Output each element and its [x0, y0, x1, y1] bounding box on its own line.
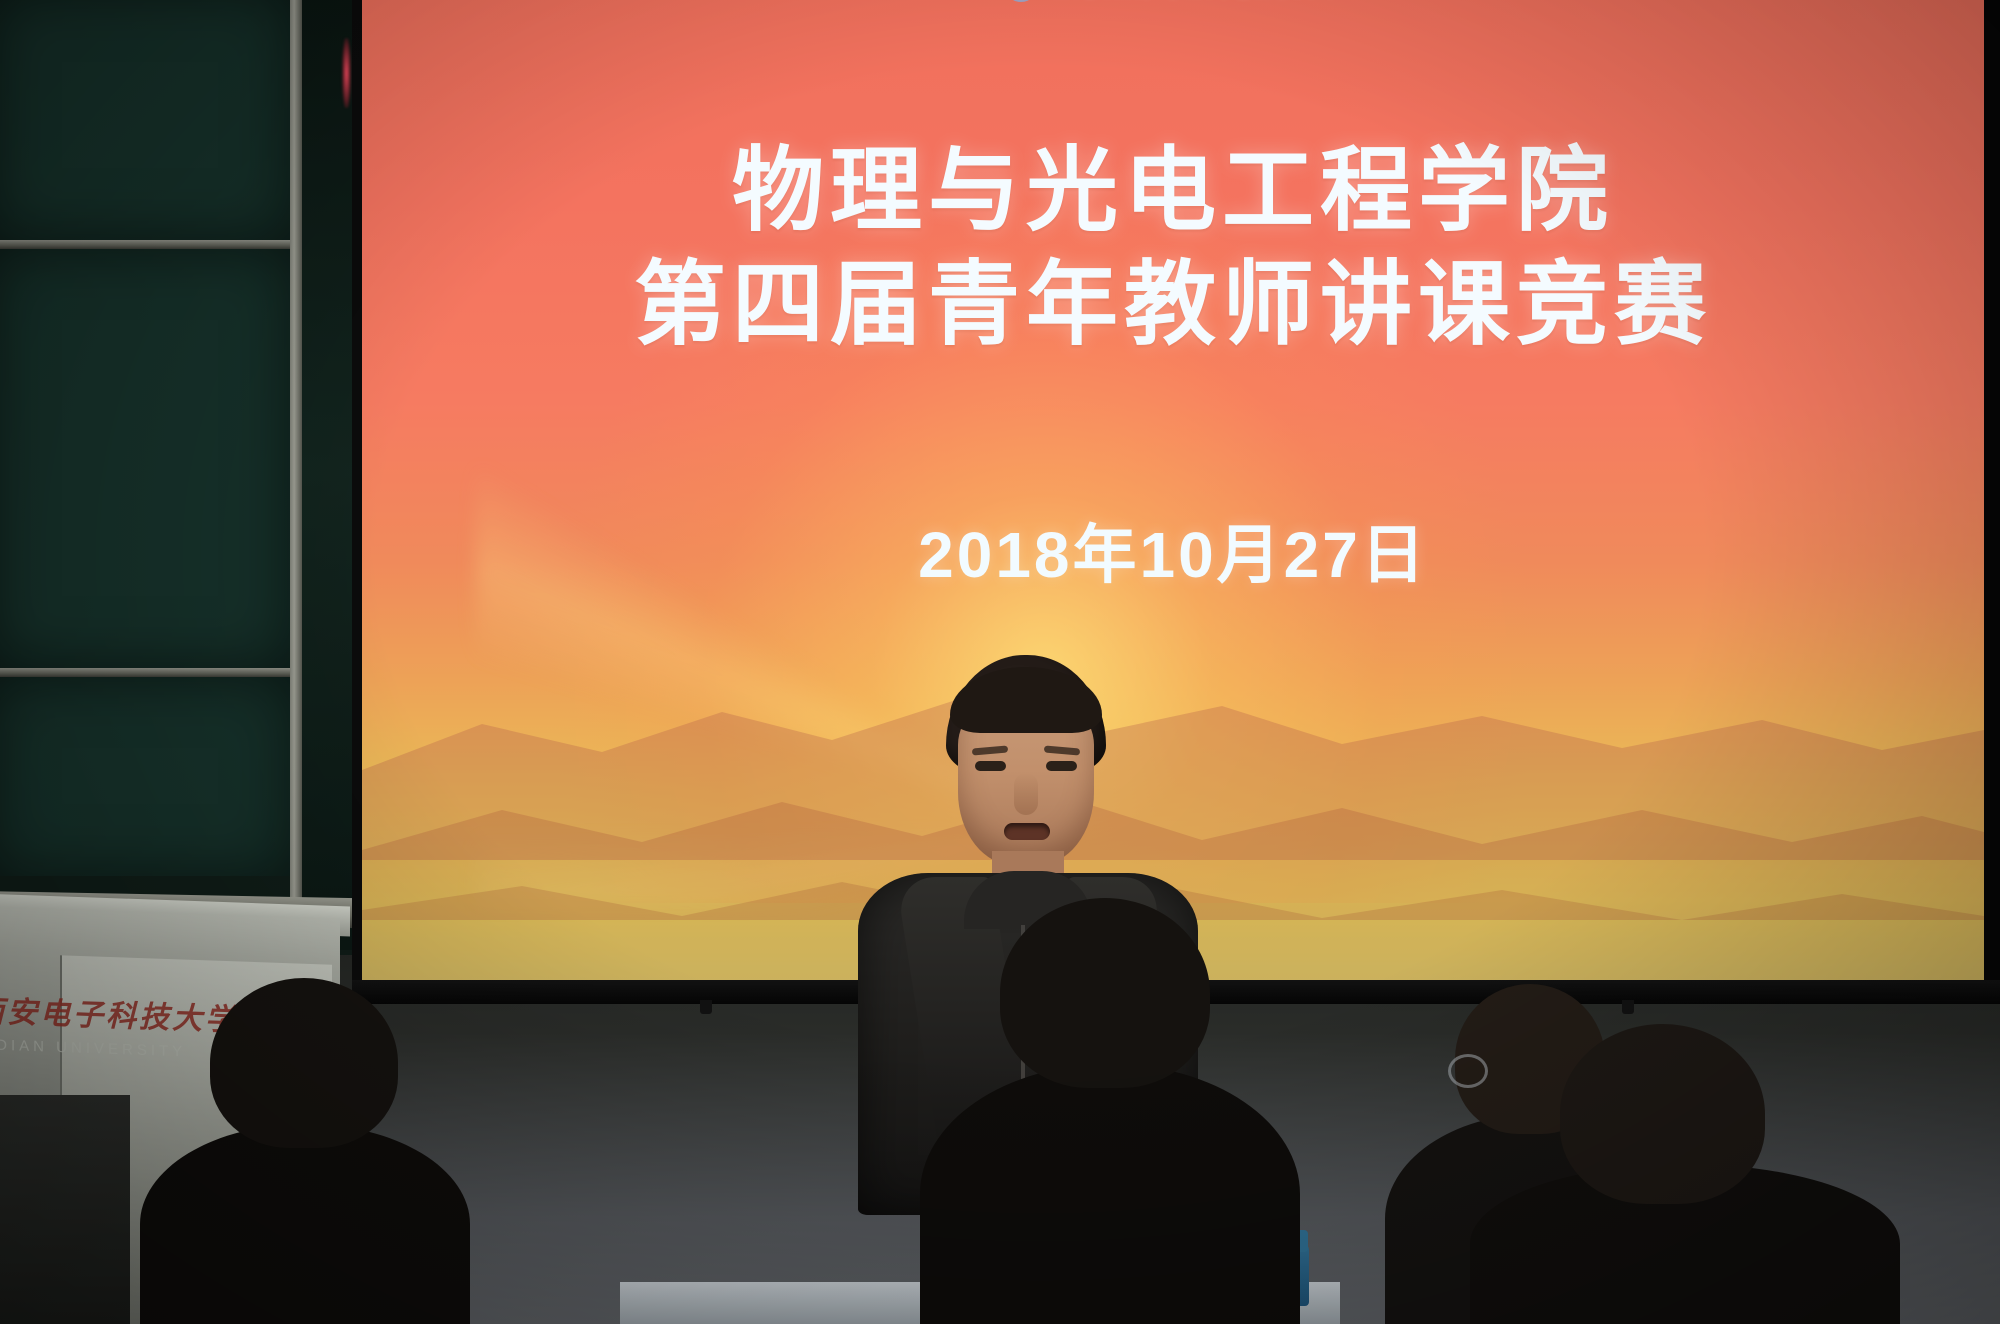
audience-member-left-body: [140, 1124, 470, 1324]
slide-date: 2018年10月27日: [362, 504, 1984, 596]
audience-row: [0, 904, 2000, 1324]
slide-brand-bar: XIDIAN UNIVERSITY: [362, 0, 1984, 18]
screen-right-edge: [1984, 0, 2000, 984]
lecture-hall-photo: XIDIAN UNIVERSITY 物理与光电工程学院 第四届青年教师讲课竞赛 …: [0, 0, 2000, 1324]
chalkboard-rail-lower: [0, 668, 302, 677]
green-chalkboard: [0, 0, 390, 955]
audience-member-center-body: [920, 1064, 1300, 1324]
presenter-mouth: [1004, 823, 1050, 840]
university-seal-icon: [1004, 0, 1038, 2]
presenter-eye-left: [975, 761, 1006, 771]
slide-title-line1: 物理与光电工程学院: [732, 140, 1614, 242]
presenter-nose: [1014, 773, 1038, 815]
audience-member-far-right-head: [1560, 1024, 1765, 1204]
slide-title: 物理与光电工程学院 第四届青年教师讲课竞赛: [362, 134, 1984, 362]
chalkboard-frame-vertical: [290, 0, 302, 950]
chalkboard-panel-top: [0, 0, 290, 240]
audience-member-left-head: [210, 978, 398, 1148]
red-light-indicator-icon: [342, 38, 351, 108]
chalkboard-rail-upper: [0, 240, 302, 249]
chalkboard-panel-bottom: [0, 676, 290, 876]
slide-brand-text: XIDIAN UNIVERSITY: [1054, 0, 1342, 3]
chalkboard-panel-middle: [0, 248, 290, 668]
glasses-icon: [1448, 1054, 1488, 1088]
slide-title-line2: 第四届青年教师讲课竞赛: [362, 248, 1984, 362]
presenter-eye-right: [1046, 761, 1077, 771]
audience-member-center-head: [1000, 898, 1210, 1088]
